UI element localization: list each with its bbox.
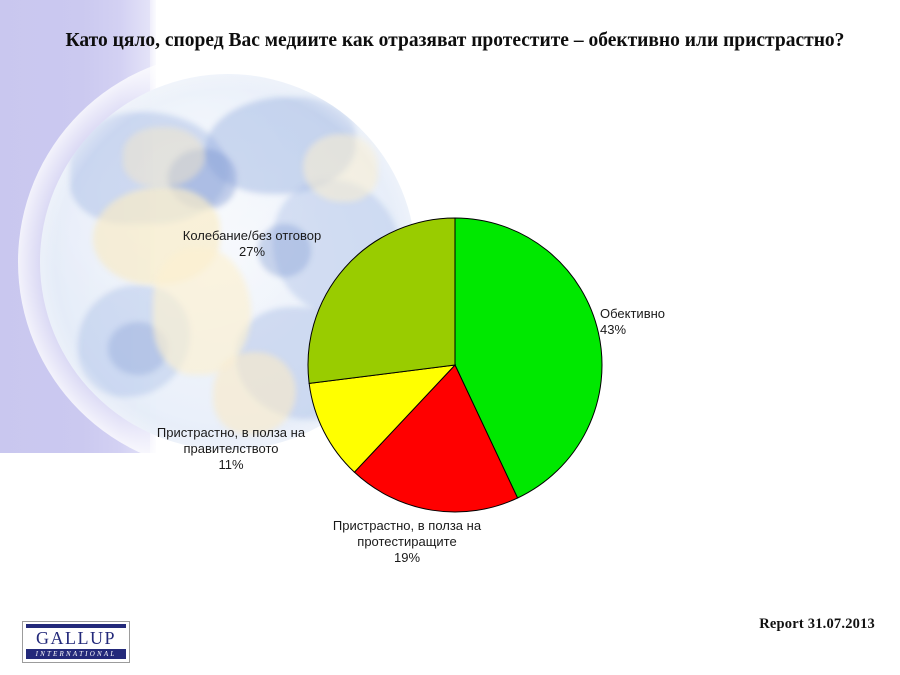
slide-title: Като цяло, според Вас медиите как отразя…	[60, 27, 850, 55]
pie-chart: Колебание/без отговор 27% Обективно 43% …	[0, 0, 900, 675]
pie-label-pro-protesters: Пристрастно, в полза на протестиращите 1…	[294, 518, 520, 566]
pie-label-no-answer: Колебание/без отговор 27%	[152, 228, 352, 260]
pie-slice-group	[308, 218, 602, 512]
logo-wordmark: GALLUP	[26, 629, 126, 648]
report-date: Report 31.07.2013	[759, 616, 875, 633]
pie-label-pro-government: Пристрастно, в полза на правителството 1…	[136, 425, 326, 473]
gallup-international-logo: GALLUP INTERNATIONAL	[22, 621, 130, 663]
pie-label-objective: Обективно 43%	[600, 306, 760, 338]
pie-chart-svg	[0, 0, 900, 675]
slide-canvas: Като цяло, според Вас медиите как отразя…	[0, 0, 900, 675]
logo-subtitle-bar: INTERNATIONAL	[26, 649, 126, 659]
